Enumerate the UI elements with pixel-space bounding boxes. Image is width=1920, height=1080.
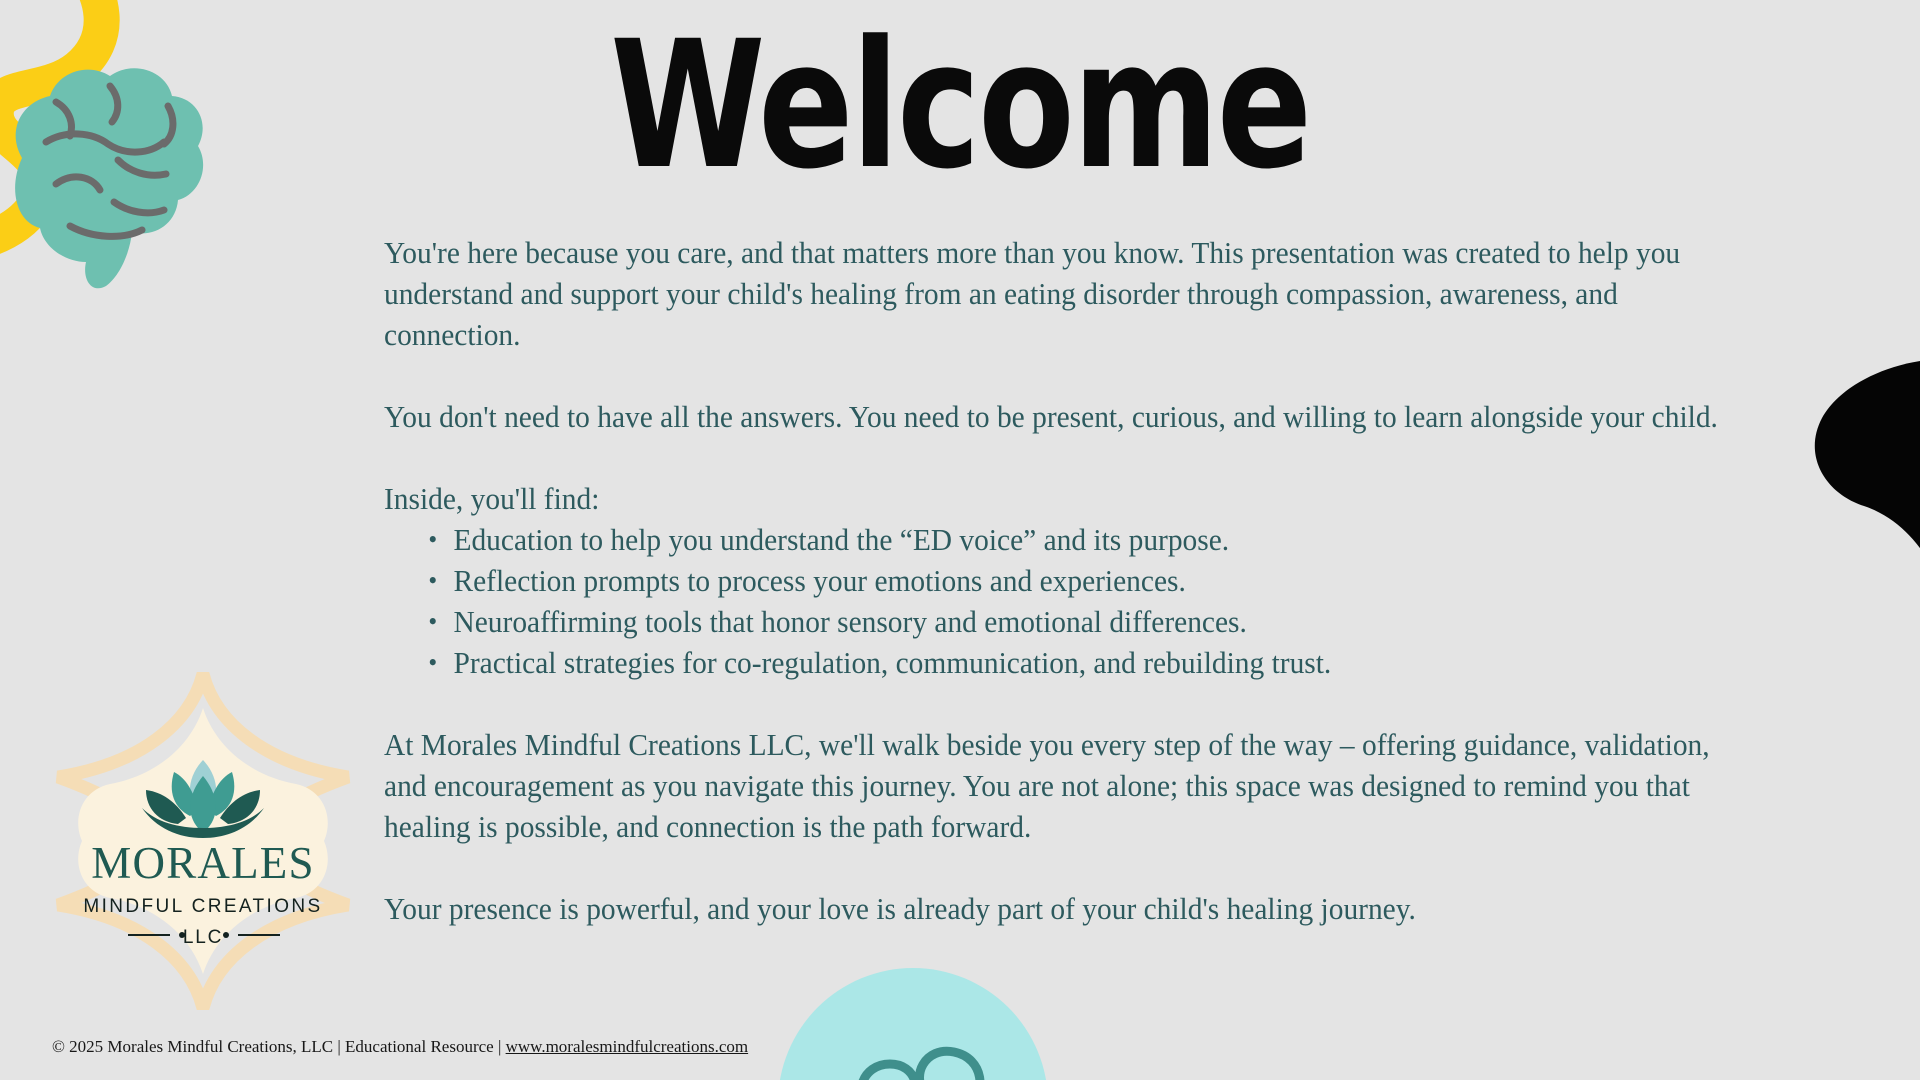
- paragraph-answers: You don't need to have all the answers. …: [384, 397, 1727, 438]
- body-copy: You're here because you care, and that m…: [384, 233, 1727, 930]
- paragraph-spacer: [384, 438, 1727, 479]
- scribble-circle-icon: [778, 968, 1048, 1080]
- list-item: Neuroaffirming tools that honor sensory …: [428, 602, 1727, 643]
- logo-name-primary: MORALES: [91, 838, 314, 888]
- contents-bullet-list: Education to help you understand the “ED…: [384, 520, 1727, 684]
- organic-blob-icon: [1760, 360, 1920, 590]
- list-intro: Inside, you'll find:: [384, 479, 1727, 520]
- logo-entity: LLC: [183, 927, 223, 948]
- footer-website-link[interactable]: www.moralesmindfulcreations.com: [506, 1037, 749, 1056]
- paragraph-company: At Morales Mindful Creations LLC, we'll …: [384, 725, 1727, 848]
- footer: © 2025 Morales Mindful Creations, LLC | …: [52, 1036, 748, 1058]
- paragraph-intro: You're here because you care, and that m…: [384, 233, 1727, 356]
- page-title: Welcome: [192, 18, 1728, 194]
- list-item: Education to help you understand the “ED…: [428, 520, 1727, 561]
- slide-canvas: MORALES MINDFUL CREATIONS LLC Welcome Yo…: [0, 0, 1920, 1080]
- list-item: Practical strategies for co-regulation, …: [428, 643, 1727, 684]
- morales-mindful-creations-logo: MORALES MINDFUL CREATIONS LLC: [38, 672, 368, 1010]
- list-item: Reflection prompts to process your emoti…: [428, 561, 1727, 602]
- lotus-icon: [142, 760, 264, 838]
- paragraph-spacer: [384, 684, 1727, 725]
- paragraph-closing: Your presence is powerful, and your love…: [384, 889, 1727, 930]
- logo-name-secondary: MINDFUL CREATIONS: [83, 896, 322, 917]
- squiggle-ribbon-icon: [0, 0, 160, 260]
- paragraph-spacer: [384, 356, 1727, 397]
- footer-copyright: © 2025 Morales Mindful Creations, LLC | …: [52, 1037, 506, 1056]
- paragraph-spacer: [384, 848, 1727, 889]
